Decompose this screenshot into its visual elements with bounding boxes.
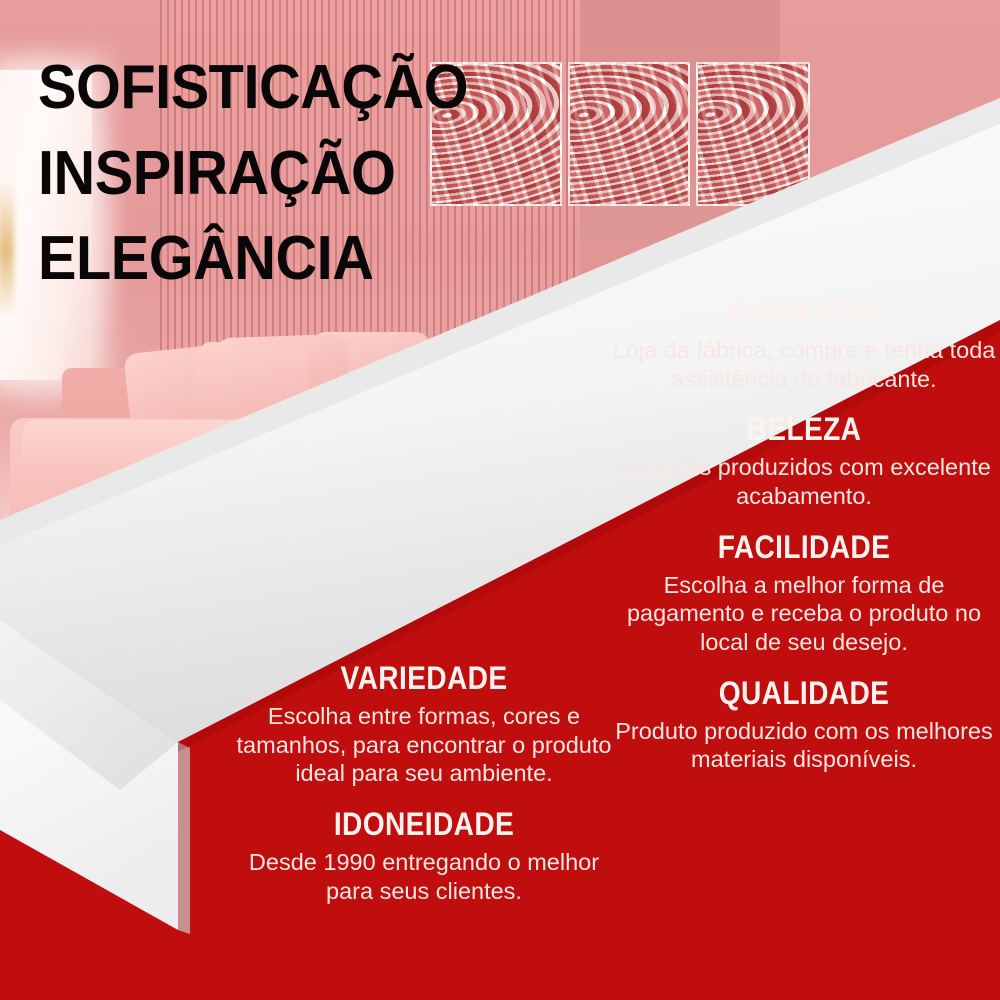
benefit-body: Desde 1990 entregando o melhor para seus…: [232, 848, 616, 905]
benefit-title: GARANTIA: [635, 296, 973, 328]
headline: SOFISTICAÇÃO INSPIRAÇÃO ELEGÂNCIA: [38, 58, 468, 315]
benefit-body: Escolha entre formas, cores e tamanhos, …: [232, 702, 616, 788]
sofa-seat: [292, 430, 592, 500]
benefit-body: Loja da fábrica, compre e tenha toda ass…: [612, 336, 996, 393]
benefit-title: FACILIDADE: [635, 531, 973, 563]
benefit-idoneidade: IDONEIDADE Desde 1990 entregando o melho…: [232, 808, 616, 905]
promo-poster: SOFISTICAÇÃO INSPIRAÇÃO ELEGÂNCIA: [0, 0, 1000, 1000]
benefit-title: BELEZA: [635, 413, 973, 445]
benefits-column-left: VARIEDADE Escolha entre formas, cores e …: [232, 662, 616, 905]
benefit-title: QUALIDADE: [635, 677, 973, 709]
benefit-title: IDONEIDADE: [255, 808, 593, 840]
benefit-body: Produto produzido com os melhores materi…: [612, 717, 996, 774]
wall-art-panel-2: [568, 62, 690, 206]
benefit-garantia: GARANTIA Loja da fábrica, compre e tenha…: [612, 296, 996, 393]
benefits-column-right: GARANTIA Loja da fábrica, compre e tenha…: [612, 296, 996, 774]
headline-line-2: INSPIRAÇÃO: [38, 144, 468, 204]
benefit-beleza: BELEZA Produtos produzidos com excelente…: [612, 413, 996, 510]
ribbon-tab-edge: [178, 742, 190, 934]
benefit-body: Produtos produzidos com excelente acabam…: [612, 453, 996, 510]
benefit-variedade: VARIEDADE Escolha entre formas, cores e …: [232, 662, 616, 788]
benefit-body: Escolha a melhor forma de pagamento e re…: [612, 571, 996, 657]
benefit-facilidade: FACILIDADE Escolha a melhor forma de pag…: [612, 531, 996, 657]
curtain-warm-light: [0, 180, 14, 320]
sofa-ottoman-top: [22, 420, 312, 484]
ribbon-fold-shadow: [0, 620, 178, 790]
benefit-title: VARIEDADE: [255, 662, 593, 694]
ribbon-fold-tab: [0, 620, 178, 930]
headline-line-1: SOFISTICAÇÃO: [38, 58, 468, 118]
wall-art-panel-3: [696, 62, 810, 206]
benefit-qualidade: QUALIDADE Produto produzido com os melho…: [612, 677, 996, 774]
headline-line-3: ELEGÂNCIA: [38, 229, 468, 289]
